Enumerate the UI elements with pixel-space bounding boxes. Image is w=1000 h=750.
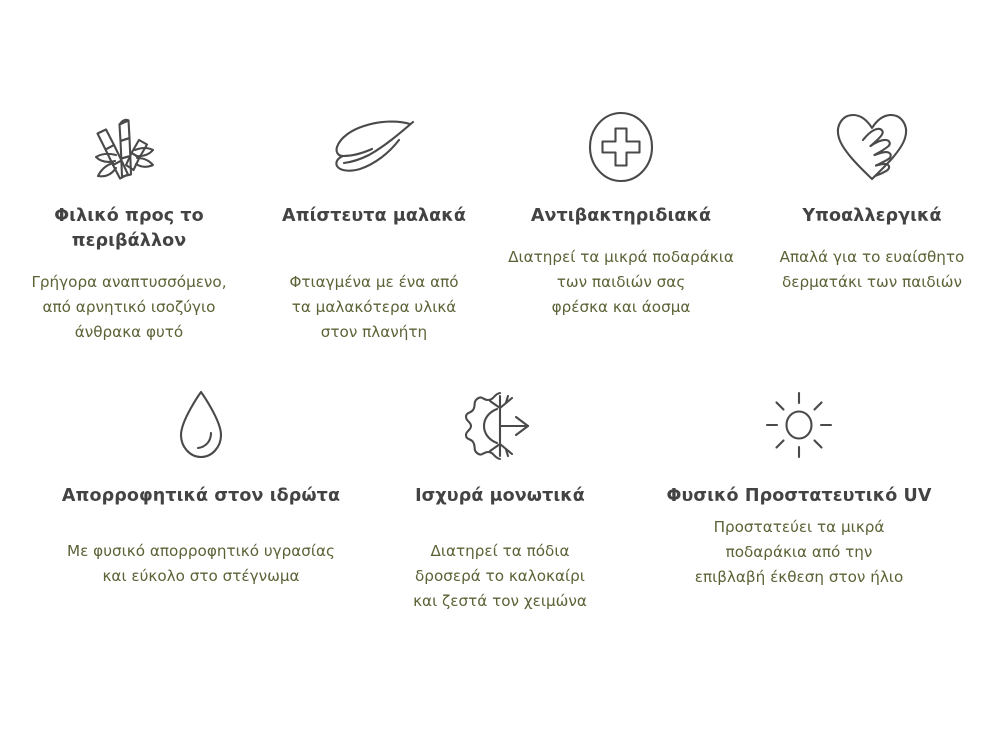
feature-row-2: Απορροφητικά στον ιδρώτα Με φυσικό απορρ… bbox=[0, 382, 1000, 614]
sun-rays-icon bbox=[764, 382, 834, 468]
feature-body: Προστατεύει τα μικρά ποδαράκια από την ε… bbox=[695, 515, 904, 590]
feature-title: Αντιβακτηριδιακά bbox=[531, 204, 711, 229]
feature-body: Διατηρεί τα πόδια δροσερά το καλοκαίρι κ… bbox=[413, 539, 587, 614]
feature-card-super-soft: Απίστευτα μαλακά Φτιαγμένα με ένα από τα… bbox=[254, 104, 494, 345]
feature-body: Φτιαγμένα με ένα από τα μαλακότερα υλικά… bbox=[289, 270, 458, 345]
feature-card-sweat-absorbing: Απορροφητικά στον ιδρώτα Με φυσικό απορρ… bbox=[51, 382, 351, 589]
feature-body: Με φυσικό απορροφητικό υγρασίας και εύκο… bbox=[67, 539, 335, 589]
medical-cross-circle-icon bbox=[586, 104, 656, 190]
feature-body: Απαλά για το ευαίσθητο δερματάκι των παι… bbox=[780, 245, 965, 295]
feature-card-antibacterial: Αντιβακτηριδιακά Διατηρεί τα μικρά ποδαρ… bbox=[494, 104, 748, 320]
feature-title: Απίστευτα μαλακά bbox=[282, 204, 466, 229]
feature-body: Γρήγορα αναπτυσσόμενο, από αρνητικό ισοζ… bbox=[31, 270, 226, 345]
feature-card-insulating: Ισχυρά μονωτικά Διατηρεί τα πόδια δροσερ… bbox=[351, 382, 649, 614]
features-board: Φιλικό προς το περιβάλλον Γρήγορα αναπτυ… bbox=[0, 0, 1000, 750]
feature-title: Φυσικό Προστατευτικό UV bbox=[666, 484, 931, 509]
feature-title: Φιλικό προς το περιβάλλον bbox=[4, 204, 254, 254]
sun-snowflake-icon bbox=[464, 382, 536, 468]
feature-title: Απορροφητικά στον ιδρώτα bbox=[62, 484, 340, 509]
feature-card-eco-friendly: Φιλικό προς το περιβάλλον Γρήγορα αναπτυ… bbox=[4, 104, 254, 345]
bamboo-icon bbox=[83, 104, 163, 190]
feature-row-1: Φιλικό προς το περιβάλλον Γρήγορα αναπτυ… bbox=[0, 104, 1000, 345]
feature-title: Υποαλλεργικά bbox=[802, 204, 941, 229]
water-drop-icon bbox=[173, 382, 229, 468]
feature-title: Ισχυρά μονωτικά bbox=[415, 484, 585, 509]
feather-leaf-icon bbox=[327, 104, 421, 190]
feature-card-uv-protection: Φυσικό Προστατευτικό UV Προστατεύει τα μ… bbox=[649, 382, 949, 590]
feature-body: Διατηρεί τα μικρά ποδαράκια των παιδιών … bbox=[508, 245, 734, 320]
heart-hands-icon bbox=[833, 104, 911, 190]
feature-card-hypoallergenic: Υποαλλεργικά Απαλά για το ευαίσθητο δερμ… bbox=[748, 104, 996, 295]
